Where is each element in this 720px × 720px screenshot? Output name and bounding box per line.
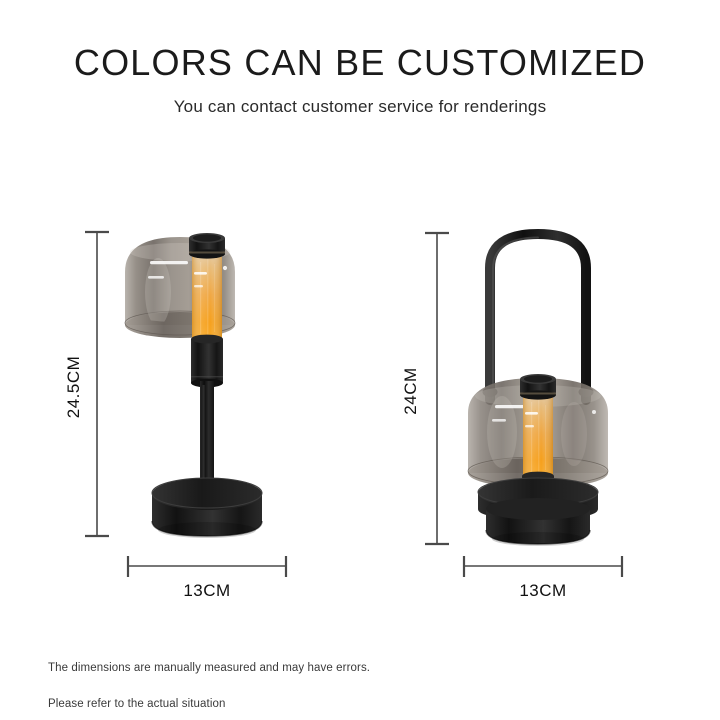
black-top-cap [520, 374, 556, 400]
footer-disclaimer: The dimensions are manually measured and… [48, 663, 668, 710]
dimension-line-width [464, 556, 622, 577]
product-spec-image: COLORS CAN BE CUSTOMIZED You can contact… [0, 0, 720, 720]
black-socket-collar [191, 335, 223, 388]
black-stem [200, 381, 214, 494]
dimension-label-width: 13CM [464, 581, 622, 601]
dimension-line-height [425, 233, 449, 544]
disclaimer-line-2: Please refer to the actual situation [48, 699, 668, 711]
black-top-cap [189, 233, 225, 259]
dimension-label-height: 24.5CM [64, 327, 84, 447]
amber-bulb-cylinder [192, 252, 222, 342]
amber-bulb-cylinder [523, 393, 553, 479]
black-cylinder-base [478, 478, 598, 546]
lamp-dome-stem-illustration [0, 0, 360, 720]
product-figure-lantern-handle: 24CM 13CM [360, 0, 720, 720]
dimension-line-height [85, 232, 109, 536]
product-figure-dome-stem: 24.5CM 13CM [0, 0, 360, 720]
dimension-label-width: 13CM [128, 581, 286, 601]
dimension-label-height: 24CM [401, 331, 421, 451]
dimension-line-width [128, 556, 286, 577]
black-round-base [152, 478, 262, 538]
disclaimer-line-1: The dimensions are manually measured and… [48, 663, 668, 675]
